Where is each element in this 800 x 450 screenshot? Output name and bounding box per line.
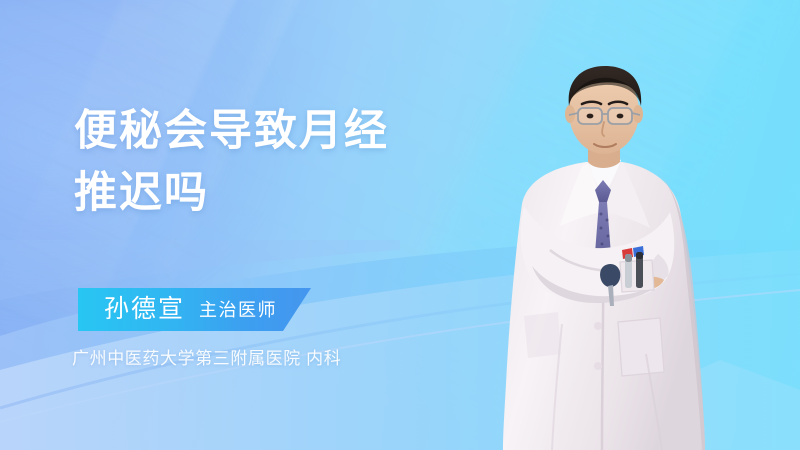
doctor-affiliation: 广州中医药大学第三附属医院 内科 — [72, 344, 341, 369]
doctor-name-banner: 孙德宣 主治医师 — [78, 288, 311, 331]
video-thumbnail-card: 便秘会导致月经 推迟吗 孙德宣 主治医师 广州中医药大学第三附属医院 内科 — [0, 0, 800, 450]
doctor-rank: 主治医师 — [199, 301, 277, 319]
page-title: 便秘会导致月经 推迟吗 — [74, 100, 544, 224]
doctor-name: 孙德宣 — [104, 297, 185, 322]
